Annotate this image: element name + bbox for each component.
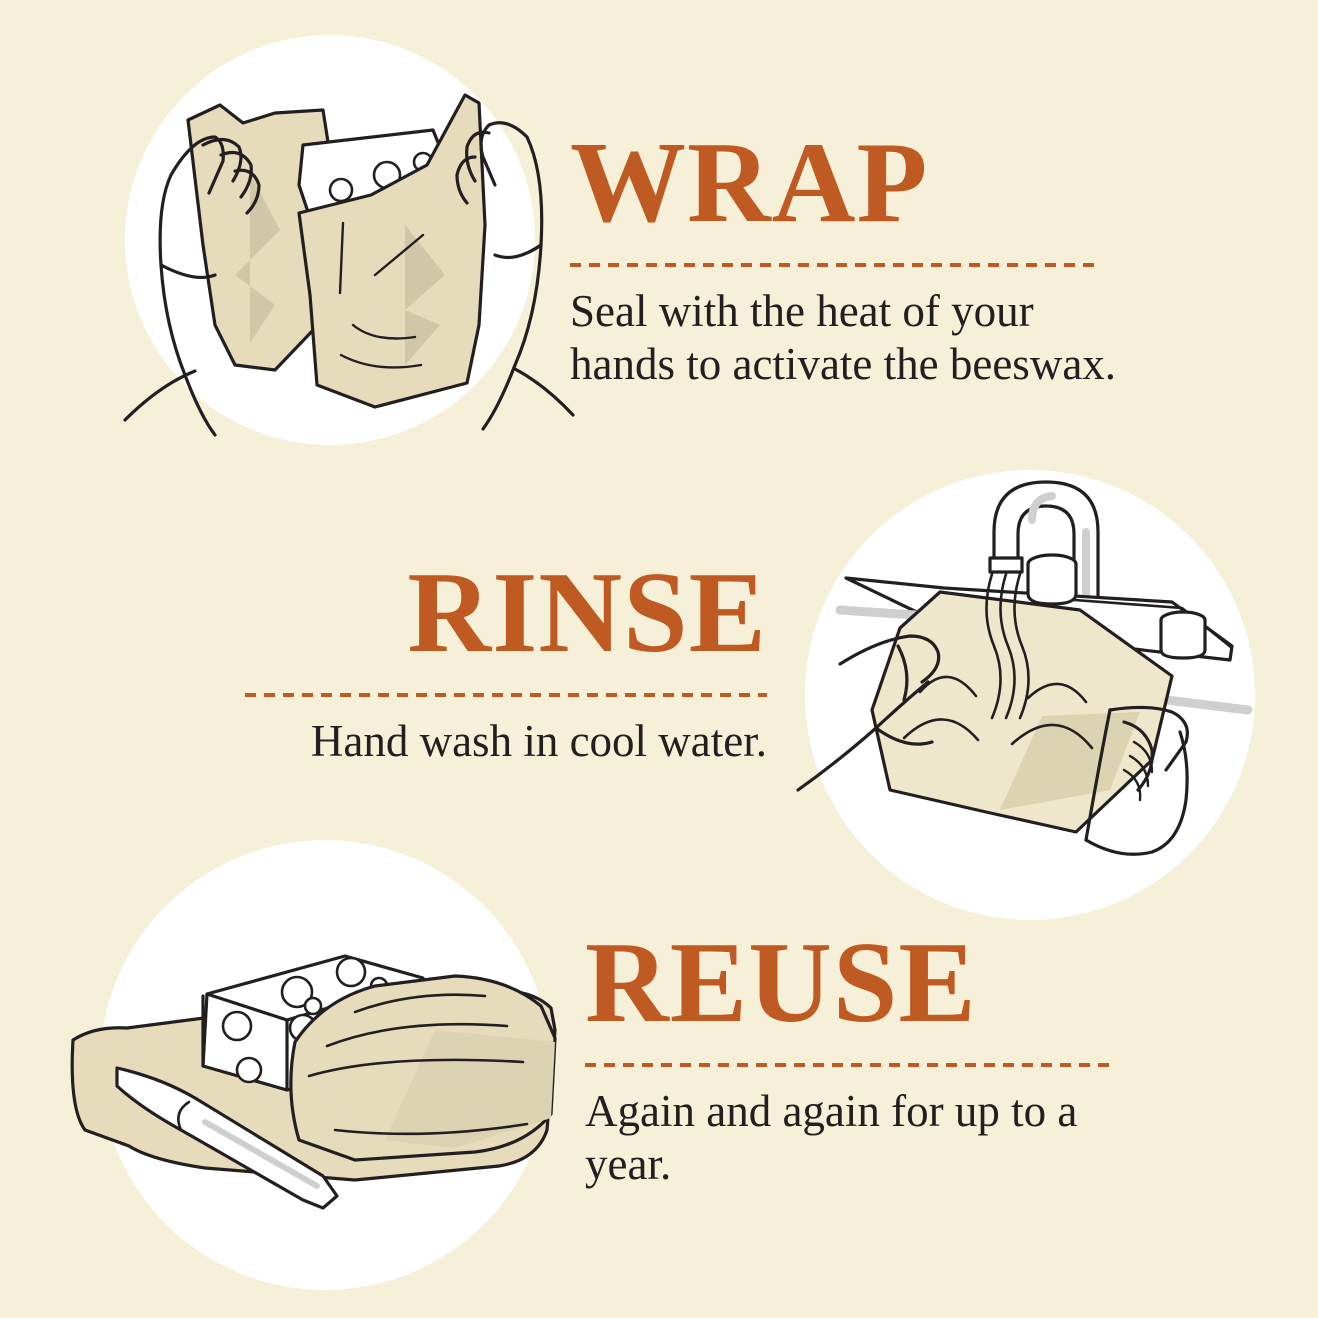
step-heading-reuse: REUSE	[585, 925, 1145, 1041]
step-text-reuse: REUSE Again and again for up to a year.	[585, 925, 1145, 1190]
divider-rinse	[245, 693, 767, 697]
step-panel-reuse: REUSE Again and again for up to a year.	[0, 820, 1318, 1318]
beeswax-wrap-care-infographic: WRAP Seal with the heat of your hands to…	[0, 0, 1318, 1318]
step-heading-wrap: WRAP	[570, 125, 1140, 241]
step-panel-wrap: WRAP Seal with the heat of your hands to…	[0, 0, 1318, 470]
step-body-reuse: Again and again for up to a year.	[585, 1085, 1145, 1190]
step-text-wrap: WRAP Seal with the heat of your hands to…	[570, 125, 1140, 390]
step-text-rinse: RINSE Hand wash in cool water.	[205, 555, 767, 768]
divider-wrap	[570, 263, 1098, 267]
step-heading-rinse: RINSE	[205, 555, 767, 671]
cheese-block-wrapped-with-knife-illustration	[55, 830, 595, 1300]
hands-wrapping-cheese-illustration	[75, 25, 575, 455]
step-body-wrap: Seal with the heat of your hands to acti…	[570, 285, 1140, 390]
step-body-rinse: Hand wash in cool water.	[205, 715, 767, 768]
divider-reuse	[585, 1063, 1117, 1067]
